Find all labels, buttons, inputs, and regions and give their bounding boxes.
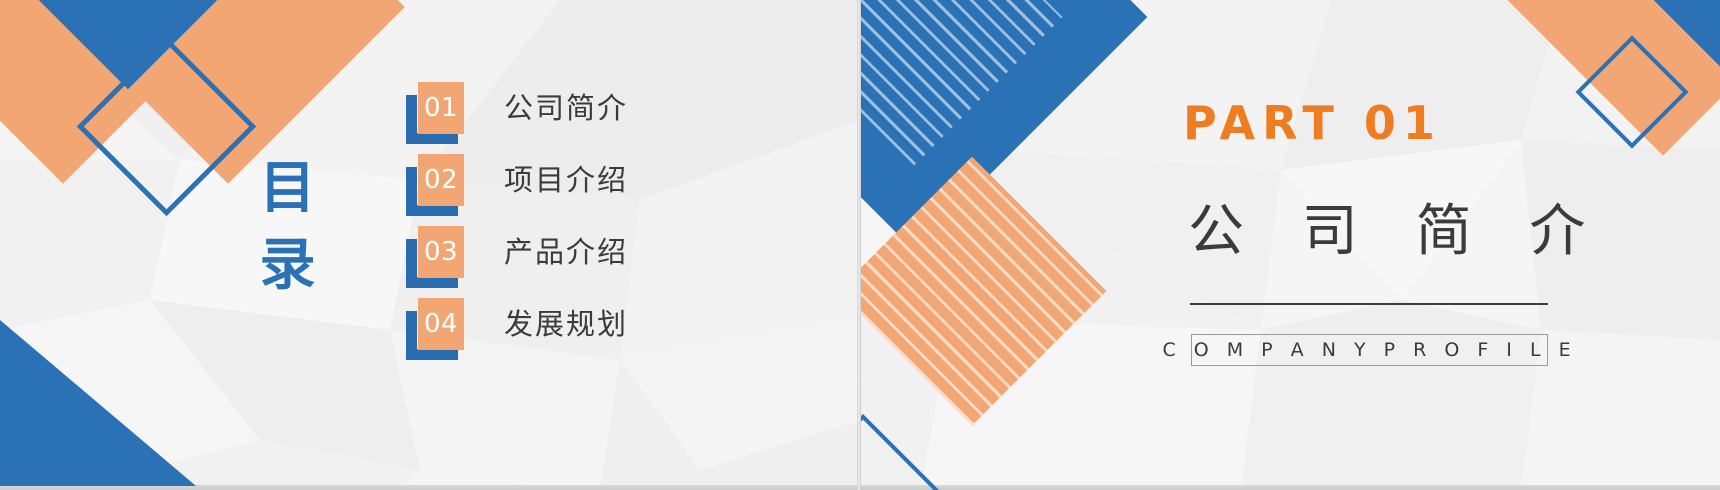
- part-label: PART 01: [1183, 96, 1442, 150]
- slide-bottom-edge-right: [861, 485, 1720, 490]
- toc-number-01: 01: [418, 82, 464, 134]
- toc-item-03[interactable]: 03 产品介绍: [406, 226, 628, 298]
- toc-number-badge-04: 04: [406, 298, 472, 360]
- subheading-box: C O M P A N Y P R O F I L E: [1191, 334, 1548, 366]
- toc-number-02: 02: [418, 154, 464, 206]
- slide-divider: [857, 0, 861, 490]
- section-heading: 公 司 简 介: [1188, 186, 1605, 267]
- toc-heading-char-1: 目: [252, 150, 324, 227]
- slide-table-of-contents[interactable]: 目 录 01 公司简介 02 项目介绍 0: [0, 0, 861, 490]
- heading-underline: [1190, 303, 1548, 305]
- blue-triangle-bottom-left: [0, 320, 196, 486]
- slide-deck-canvas: 目 录 01 公司简介 02 项目介绍 0: [0, 0, 1720, 490]
- toc-label-03[interactable]: 产品介绍: [504, 226, 628, 278]
- toc-number-badge-01: 01: [406, 82, 472, 144]
- toc-label-01[interactable]: 公司简介: [504, 82, 628, 134]
- toc-item-01[interactable]: 01 公司简介: [406, 82, 628, 154]
- toc-number-badge-03: 03: [406, 226, 472, 288]
- toc-number-badge-02: 02: [406, 154, 472, 216]
- section-subheading: C O M P A N Y P R O F I L E: [1162, 339, 1576, 361]
- toc-item-04[interactable]: 04 发展规划: [406, 298, 628, 370]
- toc-item-02[interactable]: 02 项目介绍: [406, 154, 628, 226]
- toc-number-03: 03: [418, 226, 464, 278]
- toc-heading-char-2: 录: [252, 227, 324, 304]
- toc-list: 01 公司简介 02 项目介绍 03 产品介绍: [406, 82, 628, 370]
- toc-number-04: 04: [418, 298, 464, 350]
- toc-label-04[interactable]: 发展规划: [504, 298, 628, 350]
- toc-heading: 目 录: [252, 150, 324, 305]
- toc-label-02[interactable]: 项目介绍: [504, 154, 628, 206]
